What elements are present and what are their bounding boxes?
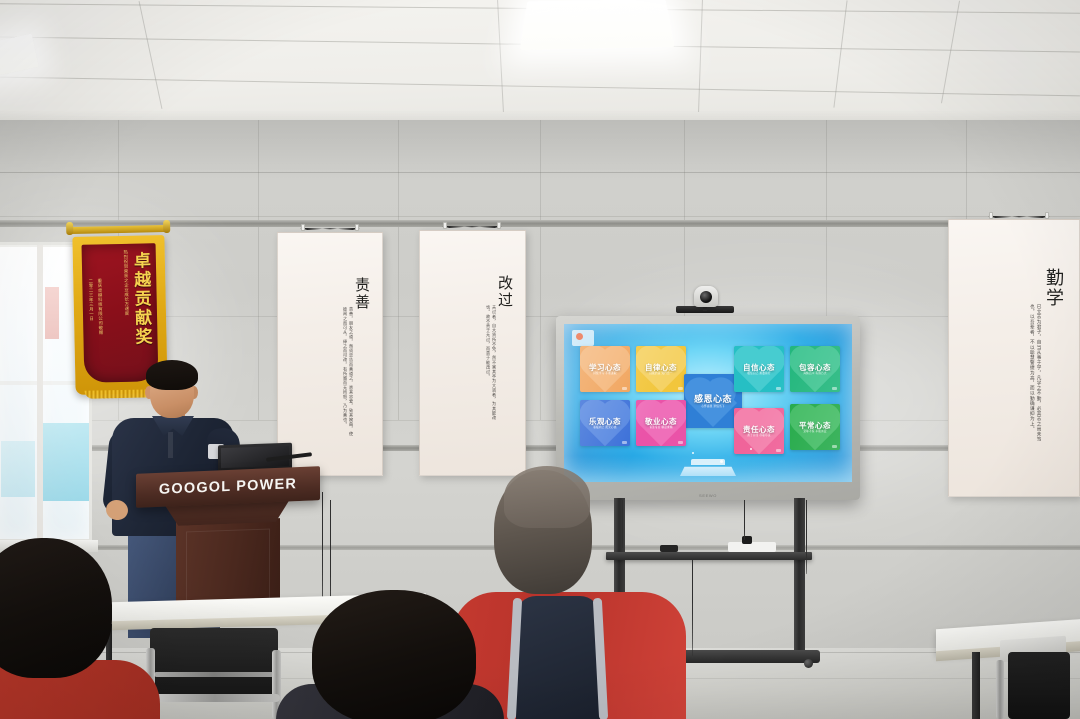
card-sub: 相信自己 勇敢前行 xyxy=(734,372,784,376)
pennant-date: 二零二三年三月一日 xyxy=(87,279,93,321)
card-sub: 宠辱不惊 平和淡定 xyxy=(790,430,840,434)
ceiling xyxy=(0,0,1080,132)
mindset-card-5: 包容心态 海纳百川 有容乃大 xyxy=(790,346,840,392)
attendee-right-jacket-panel xyxy=(516,596,600,719)
ceiling-light-1 xyxy=(0,34,39,81)
scroll-title-3: 勤学 xyxy=(1043,268,1063,308)
caster-wheel-right xyxy=(804,659,813,668)
panel-screen[interactable]: 学习心态 持续学习 不断进取 自律心态 自我约束 知行合一 感恩心态 心怀感恩 … xyxy=(564,324,852,482)
card-sub: 海纳百川 有容乃大 xyxy=(790,372,840,376)
card-label: 自律心态 xyxy=(636,362,686,373)
scroll-body-3: 已立志为君子，自当从事于学，凡学之不勤，必其志之尚未笃也。以吾辈者，不以聪慧警捷… xyxy=(1028,304,1041,450)
scroll-title-1: 责善 xyxy=(354,277,371,311)
tv-stand-post-right xyxy=(794,498,805,656)
card-sub: 自我约束 知行合一 xyxy=(636,372,686,376)
card-sub: 积极向上 阳光心态 xyxy=(580,426,630,430)
card-label: 敬业心态 xyxy=(636,416,686,427)
podium-brand-label: GOOGOL POWER xyxy=(136,475,320,499)
card-label: 责任心态 xyxy=(734,424,784,435)
card-label: 包容心态 xyxy=(790,362,840,373)
power-strip[interactable] xyxy=(728,542,776,552)
interactive-flat-panel[interactable]: 学习心态 持续学习 不断进取 自律心态 自我约束 知行合一 感恩心态 心怀感恩 … xyxy=(556,316,860,500)
mindset-card-7: 敬业心态 专注专业 精益求精 xyxy=(636,400,686,446)
wall-scroll-gaiguo: 改过 夫过者，自大贤所不免，然不害其卒为大贤者，为其能改也。故不贵于无过，而贵于… xyxy=(419,230,526,476)
card-label: 学习心态 xyxy=(580,362,630,373)
card-sub: 勇于担当 尽职尽责 xyxy=(734,434,784,438)
presenter-hair xyxy=(146,360,198,390)
podium-cable-2 xyxy=(330,500,331,608)
meeting-room-photo: 热烈祝贺荣获之企业成长方速度 卓越贡献奖 重庆卓越科技有限公司敬赠 二零二三年三… xyxy=(0,0,1080,719)
mindset-card-8: 责任心态 勇于担当 尽职尽责 xyxy=(734,408,784,454)
card-label: 平常心态 xyxy=(790,420,840,431)
attendee-center-head xyxy=(312,590,476,719)
chair-back-3[interactable] xyxy=(1008,652,1070,719)
remote-control[interactable] xyxy=(660,545,678,552)
ceiling-light-2 xyxy=(520,0,675,50)
wall-scroll-zeshan: 责善 责善，朋友之道，然须忠告而善道之，悉其忠爱，致其婉曲，使彼闻之而可从，绎之… xyxy=(277,232,383,476)
panel-cable-1 xyxy=(744,500,745,540)
pennant-donor: 重庆卓越科技有限公司敬赠 xyxy=(96,278,103,335)
card-label: 乐观心态 xyxy=(580,416,630,427)
scroll-body-1: 责善，朋友之道，然须忠告而善道之，悉其忠爱，致其婉曲，使彼闻之而可从，绎之而可改… xyxy=(342,307,354,437)
card-sub: 持续学习 不断进取 xyxy=(580,372,630,376)
pennant-rod xyxy=(68,225,168,234)
camera-lens-icon xyxy=(700,291,712,303)
tv-stand-shelf xyxy=(606,552,812,560)
mindset-card-1: 学习心态 持续学习 不断进取 xyxy=(580,346,630,392)
wall-scroll-qinxue: 勤学 已立志为君子，自当从事于学，凡学之不勤，必其志之尚未笃也。以吾辈者，不以聪… xyxy=(948,219,1080,497)
slide-logo-icon xyxy=(572,330,594,346)
chair-back-1[interactable] xyxy=(150,628,278,702)
card-label: 自信心态 xyxy=(734,362,784,373)
mindset-card-4: 自信心态 相信自己 勇敢前行 xyxy=(734,346,784,392)
card-label: 感恩心态 xyxy=(684,392,742,405)
pennant-main-text: 卓越贡献奖 xyxy=(126,251,152,346)
mindset-card-2: 自律心态 自我约束 知行合一 xyxy=(636,346,686,392)
scroll-title-2: 改过 xyxy=(497,275,514,309)
panel-cable-3 xyxy=(622,500,623,548)
mindset-card-6: 乐观心态 积极向上 阳光心态 xyxy=(580,400,630,446)
panel-brand-label: SEEWO xyxy=(699,493,717,498)
scroll-body-2: 夫过者，自大贤所不免，然不害其卒为大贤者，为其能改也。故不贵于无过，而贵于能改过… xyxy=(485,305,497,429)
mindset-card-9: 平常心态 宠辱不惊 平和淡定 xyxy=(790,404,840,450)
right-table-leg-a xyxy=(972,652,980,719)
card-sub: 专注专业 精益求精 xyxy=(636,426,686,430)
